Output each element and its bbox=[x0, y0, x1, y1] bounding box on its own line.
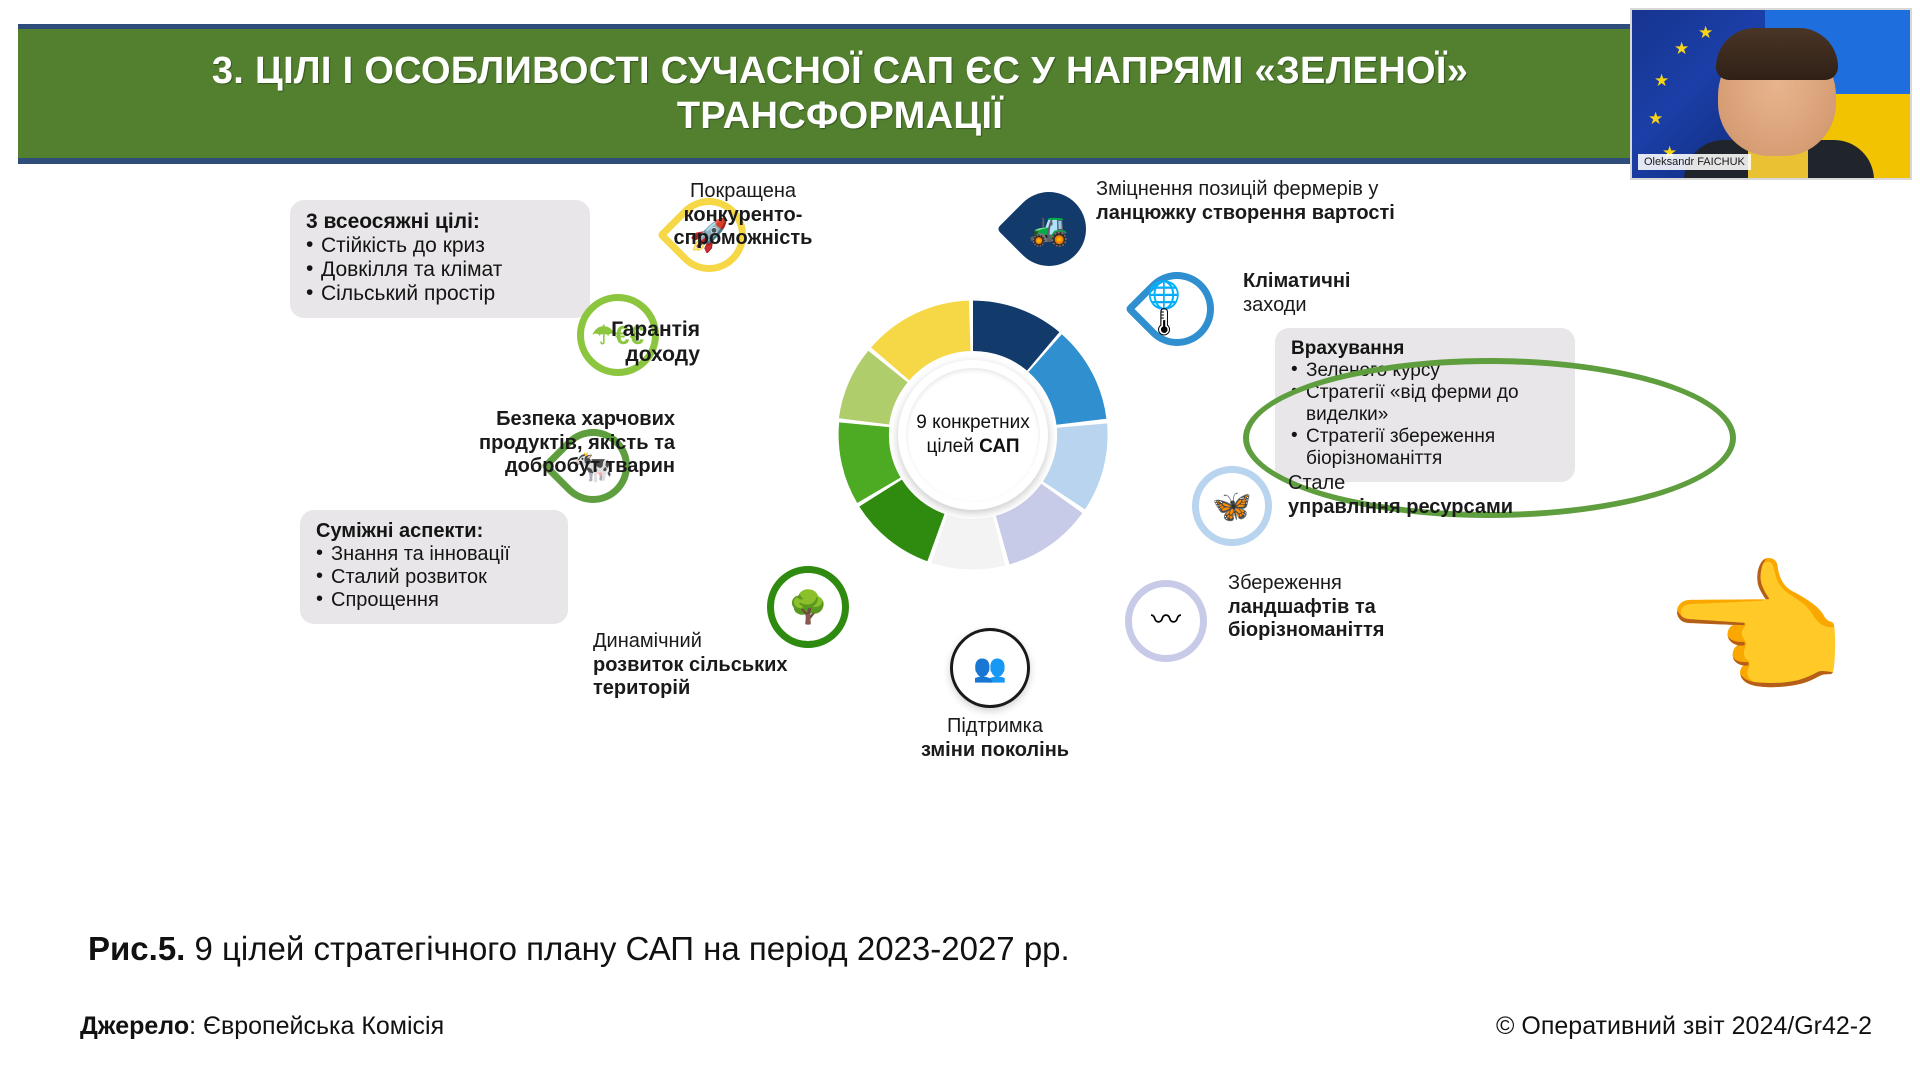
list-item: Сільський простір bbox=[306, 282, 574, 306]
label-line: Покращена bbox=[648, 180, 838, 204]
title-banner: 3. ЦІЛІ І ОСОБЛИВОСТІ СУЧАСНОЇ САП ЄС У … bbox=[18, 24, 1662, 164]
considering-title: Врахування bbox=[1291, 338, 1559, 360]
tractor-icon: 🚜 bbox=[997, 177, 1102, 282]
cross-cutting-aspects-box: Суміжні аспекти: Знання та інновації Ста… bbox=[300, 510, 568, 624]
label-competitiveness: Покращена конкуренто- спроможність bbox=[648, 180, 838, 251]
donut-center-text: 9 конкретних цілей САП bbox=[916, 411, 1030, 459]
figure-caption-text: 9 цілей стратегічного плану САП на періо… bbox=[185, 930, 1069, 967]
donut-center-line2-bold: САП bbox=[979, 436, 1019, 457]
list-item: Знання та інновації bbox=[316, 543, 552, 566]
label-line: добробут тварин bbox=[430, 455, 675, 479]
label-line: Підтримка bbox=[910, 715, 1080, 739]
label-line: спроможність bbox=[648, 227, 838, 251]
label-fair-income: Гарантія доходу bbox=[590, 318, 700, 368]
label-generational-renewal: Підтримка зміни поколінь bbox=[910, 715, 1080, 762]
considering-box: Врахування Зеленого курсу Стратегії «від… bbox=[1275, 328, 1575, 482]
considering-list: Зеленого курсу Стратегії «від ферми до в… bbox=[1291, 360, 1559, 470]
figure-caption: Рис.5. 9 цілей стратегічного плану САП н… bbox=[88, 930, 1070, 968]
source-value: : Європейська Комісія bbox=[189, 1012, 444, 1040]
overarching-title: 3 всеосяжні цілі: bbox=[306, 210, 574, 234]
list-item: Спрощення bbox=[316, 589, 552, 612]
generations-icon: 👥 bbox=[950, 628, 1030, 708]
slide-root: 3. ЦІЛІ І ОСОБЛИВОСТІ СУЧАСНОЇ САП ЄС У … bbox=[0, 0, 1920, 1080]
label-sustainable-resources: Стале управління ресурсами bbox=[1288, 472, 1513, 519]
landscape-icon: 〰 bbox=[1125, 580, 1207, 662]
list-item: Зеленого курсу bbox=[1291, 360, 1559, 382]
footer-source: Джерело: Європейська Комісія bbox=[80, 1012, 444, 1041]
label-line: Кліматичні bbox=[1243, 270, 1350, 294]
cap-objectives-donut: 9 конкретних цілей САП bbox=[833, 295, 1113, 575]
infographic-stage: 9 конкретних цілей САП 3 всеосяжні цілі:… bbox=[0, 180, 1920, 920]
label-value-chain: Зміцнення позицій фермерів у ланцюжку ст… bbox=[1096, 178, 1395, 225]
participant-hair bbox=[1716, 28, 1838, 80]
donut-center: 9 конкретних цілей САП bbox=[898, 360, 1048, 510]
label-rural-development: Динамічний розвиток сільських територій bbox=[593, 630, 788, 701]
label-line: Безпека харчових bbox=[430, 408, 675, 432]
label-climate-action: Кліматичні заходи bbox=[1243, 270, 1350, 317]
label-line: ландшафтів та bbox=[1228, 596, 1384, 620]
label-line: заходи bbox=[1243, 294, 1350, 318]
list-item: Сталий розвиток bbox=[316, 566, 552, 589]
footer-copyright: © Оперативний звіт 2024/Gr42-2 bbox=[1496, 1012, 1872, 1041]
webcam-overlay[interactable]: ★ ★ ★ ★ ★ Oleksandr FAICHUK bbox=[1630, 8, 1912, 180]
label-line: продуктів, якість та bbox=[430, 432, 675, 456]
label-line: Стале bbox=[1288, 472, 1513, 496]
label-line: доходу bbox=[590, 343, 700, 368]
label-line: управління ресурсами bbox=[1288, 496, 1513, 520]
list-item: Стійкість до криз bbox=[306, 234, 574, 258]
donut-center-line1: 9 конкретних bbox=[916, 412, 1030, 433]
source-label: Джерело bbox=[80, 1012, 189, 1040]
overarching-list: Стійкість до криз Довкілля та клімат Сіл… bbox=[306, 234, 574, 306]
butterfly-leaf-icon: 🦋 bbox=[1192, 466, 1272, 546]
label-line: зміни поколінь bbox=[910, 739, 1080, 763]
cross-cutting-list: Знання та інновації Сталий розвиток Спро… bbox=[316, 543, 552, 612]
figure-label: Рис.5. bbox=[88, 930, 185, 967]
label-line: біорізноманіття bbox=[1228, 619, 1384, 643]
list-item: Довкілля та клімат bbox=[306, 258, 574, 282]
label-line: Динамічний bbox=[593, 630, 788, 654]
label-food-safety: Безпека харчових продуктів, якість та до… bbox=[430, 408, 675, 479]
label-line: Зміцнення позицій фермерів у bbox=[1096, 178, 1395, 202]
page-title: 3. ЦІЛІ І ОСОБЛИВОСТІ СУЧАСНОЇ САП ЄС У … bbox=[48, 49, 1632, 139]
label-landscapes: Збереження ландшафтів та біорізноманіття bbox=[1228, 572, 1384, 643]
label-line: Гарантія bbox=[590, 318, 700, 343]
overarching-objectives-box: 3 всеосяжні цілі: Стійкість до криз Довк… bbox=[290, 200, 590, 318]
list-item: Стратегії збереження біорізноманіття bbox=[1291, 426, 1559, 470]
label-line: конкуренто- bbox=[648, 204, 838, 228]
donut-center-line2-light: цілей bbox=[926, 436, 979, 457]
label-line: ланцюжку створення вартості bbox=[1096, 202, 1395, 226]
globe-thermometer-icon: 🌐🌡 bbox=[1125, 257, 1230, 362]
pointing-hand-icon: 👉 bbox=[1665, 555, 1852, 705]
cross-cutting-title: Суміжні аспекти: bbox=[316, 520, 552, 543]
participant-name-label: Oleksandr FAICHUK bbox=[1638, 154, 1751, 170]
label-line: розвиток сільських bbox=[593, 654, 788, 678]
label-line: територій bbox=[593, 677, 788, 701]
list-item: Стратегії «від ферми до виделки» bbox=[1291, 382, 1559, 426]
label-line: Збереження bbox=[1228, 572, 1384, 596]
